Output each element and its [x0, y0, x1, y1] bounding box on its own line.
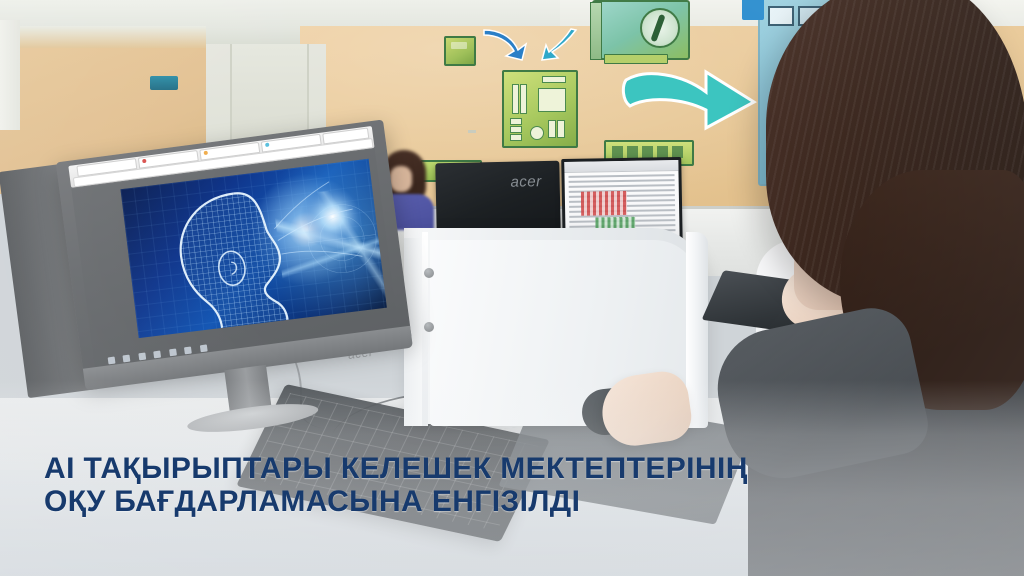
ai-head-wallpaper [120, 159, 386, 338]
ram-chip [612, 146, 623, 158]
bg-student-face [390, 166, 412, 192]
gpu-bracket [590, 2, 602, 60]
back-monitor-toolbar [564, 160, 678, 173]
taskbar-icon[interactable] [138, 353, 146, 361]
motherboard-port [510, 118, 522, 125]
wall-left-top [0, 26, 206, 48]
motherboard-socket [538, 88, 566, 112]
wall-corner-left [0, 20, 20, 130]
motherboard-capacitor [548, 120, 556, 138]
motherboard-capacitor [557, 120, 565, 138]
caption-line-2: ОҚУ БАҒДАРЛАМАСЫНА ЕНГІЗІЛДІ [44, 485, 824, 518]
motherboard-coin-cell [530, 126, 544, 140]
ram-chip [642, 146, 653, 158]
taskbar-icon[interactable] [108, 357, 116, 365]
divider-bolt [424, 322, 434, 332]
motherboard-port [510, 126, 522, 133]
back-monitor-chart-red [581, 191, 627, 216]
ram-chip [657, 146, 668, 158]
caption-block: AI ТАҚЫРЫПТАРЫ КЕЛЕШЕК МЕКТЕПТЕРІНІҢ ОҚУ… [44, 452, 824, 518]
taskbar-icon[interactable] [169, 348, 177, 356]
taskbar-icon[interactable] [154, 350, 162, 358]
arrow-decal-small-2 [540, 28, 580, 62]
graphics-card-decal [592, 0, 690, 60]
taskbar-icon[interactable] [200, 344, 208, 352]
acer-logo: acer [510, 173, 542, 191]
photo-card: acer [0, 0, 1024, 576]
caption-line-1: AI ТАҚЫРЫПТАРЫ КЕЛЕШЕК МЕКТЕПТЕРІНІҢ [44, 452, 824, 485]
motherboard-slot [512, 84, 519, 114]
wireframe-head-graphic [120, 159, 386, 338]
motherboard-slot [520, 84, 527, 114]
back-monitor-dark: acer [435, 161, 560, 236]
teal-wall-sign [150, 76, 178, 90]
motherboard-decal [502, 70, 578, 148]
arrow-decal-small-1 [482, 26, 528, 62]
ram-chip [627, 146, 638, 158]
motherboard-header [542, 76, 566, 83]
gpu-fan-icon [640, 8, 680, 48]
divider-bolt [424, 268, 434, 278]
door-handle [468, 130, 476, 133]
taskbar-icon[interactable] [184, 346, 192, 354]
motherboard-port [510, 134, 522, 141]
taskbar-icon[interactable] [123, 355, 131, 363]
foreground-monitor: acer [56, 119, 415, 400]
cpu-chip-decal [444, 36, 476, 66]
